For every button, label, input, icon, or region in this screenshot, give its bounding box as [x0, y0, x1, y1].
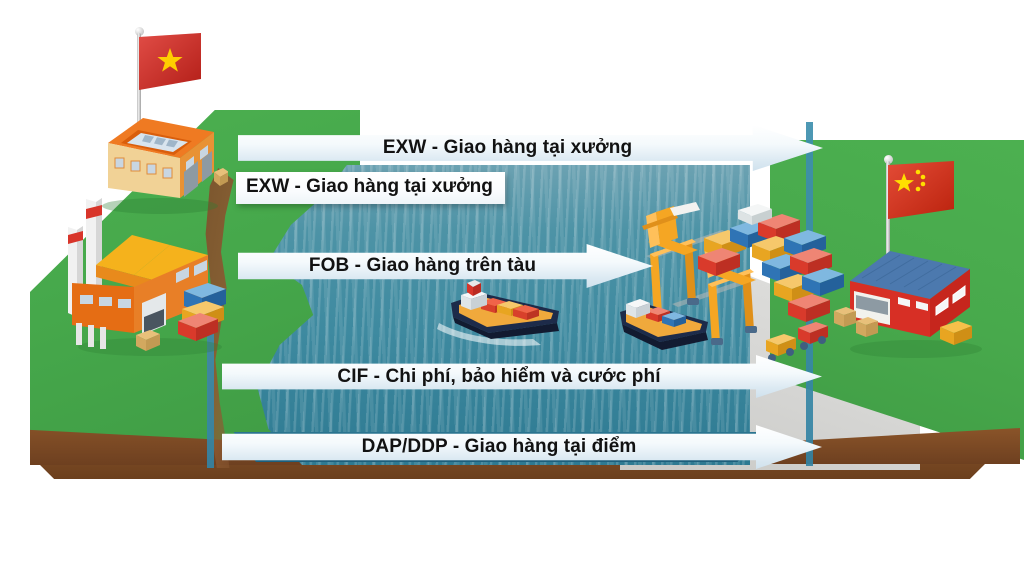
fob-arrow-label: FOB - Giao hàng trên tàu [309, 255, 536, 277]
container-port [612, 200, 852, 375]
factory-containers [178, 283, 226, 341]
origin-warehouse-crates [214, 168, 228, 186]
china-flag [888, 161, 956, 225]
isometric-scene [0, 0, 1024, 572]
dapddp-arrow-label: DAP/DDP - Giao hàng tại điểm [362, 436, 637, 458]
exw-plain-label: EXW - Giao hàng tại xưởng [236, 172, 505, 204]
destination-warehouse [832, 245, 997, 360]
cif-arrow-label: CIF - Chi phí, bảo hiểm và cước phí [337, 366, 660, 388]
sailing-container-ship [437, 277, 577, 347]
infographic-canvas: EXW - Giao hàng tại xưởng EXW - Giao hàn… [0, 0, 1024, 572]
origin-factory [58, 225, 238, 360]
vietnam-flag [139, 33, 203, 95]
exw-arrow-label: EXW - Giao hàng tại xưởng [383, 137, 632, 159]
exw-plain-label-text: EXW - Giao hàng tại xưởng [246, 176, 493, 197]
